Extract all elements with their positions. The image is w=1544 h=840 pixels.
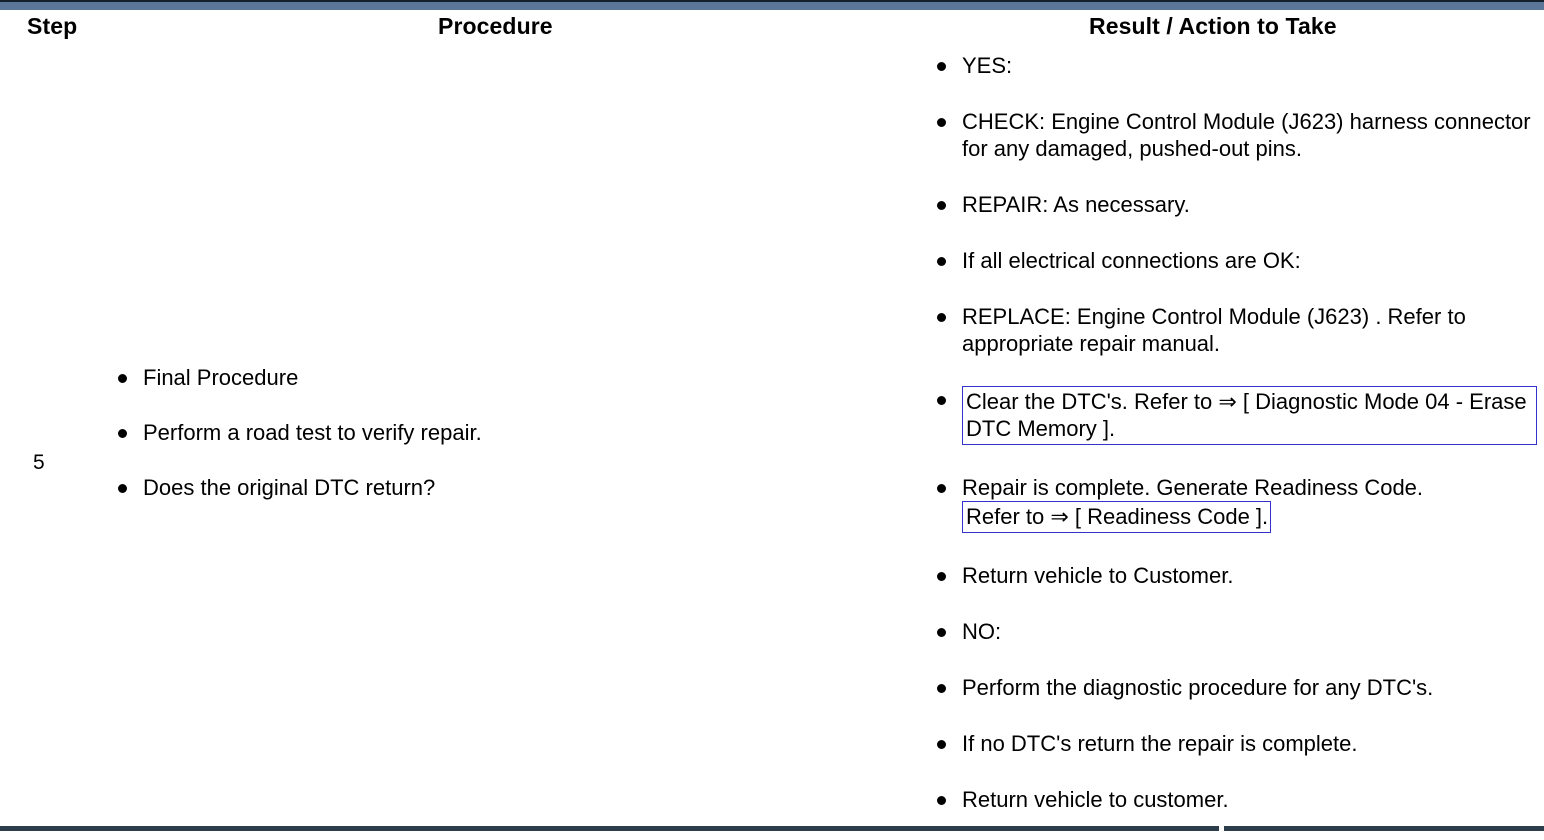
table-bottom-border: [0, 826, 1544, 831]
reference-link-box[interactable]: Clear the DTC's. Refer to ⇒ [ Diagnostic…: [962, 386, 1537, 445]
bullet-icon: [937, 62, 946, 71]
result-column: YES:CHECK: Engine Control Module (J623) …: [937, 52, 1537, 840]
bullet-icon: [937, 313, 946, 322]
result-bullet-item: NO:: [937, 618, 1537, 645]
result-bullet-item: Return vehicle to Customer.: [937, 562, 1537, 589]
result-bullet-item: YES:: [937, 52, 1537, 79]
result-bullet-text: Perform the diagnostic procedure for any…: [962, 674, 1537, 701]
procedure-bullet-text: Does the original DTC return?: [143, 474, 798, 501]
bullet-icon: [937, 684, 946, 693]
bullet-icon: [118, 429, 127, 438]
result-list: YES:CHECK: Engine Control Module (J623) …: [937, 52, 1537, 813]
result-bullet-item: CHECK: Engine Control Module (J623) harn…: [937, 108, 1537, 162]
column-header-procedure: Procedure: [438, 12, 553, 40]
result-bullet-item: Repair is complete. Generate Readiness C…: [937, 474, 1537, 533]
result-bullet-item: REPLACE: Engine Control Module (J623) . …: [937, 303, 1537, 357]
bullet-icon: [937, 796, 946, 805]
bullet-icon: [937, 628, 946, 637]
column-header-step: Step: [27, 12, 77, 40]
result-bullet-text: If no DTC's return the repair is complet…: [962, 730, 1537, 757]
table-header-row: Step Procedure Result / Action to Take: [0, 12, 1544, 46]
result-bullet-text: Return vehicle to Customer.: [962, 562, 1537, 589]
result-bullet-item: If no DTC's return the repair is complet…: [937, 730, 1537, 757]
bullet-icon: [937, 484, 946, 493]
bullet-icon: [937, 257, 946, 266]
diagnostic-procedure-table: Step Procedure Result / Action to Take 5…: [0, 0, 1544, 840]
result-bullet-text: Return vehicle to customer.: [962, 786, 1537, 813]
bullet-icon: [937, 118, 946, 127]
reference-link-box[interactable]: Refer to ⇒ [ Readiness Code ].: [962, 501, 1271, 533]
bullet-icon: [937, 396, 946, 405]
result-bullet-text: Repair is complete. Generate Readiness C…: [962, 474, 1537, 501]
bullet-icon: [118, 374, 127, 383]
result-bullet-text: CHECK: Engine Control Module (J623) harn…: [962, 108, 1537, 162]
result-bullet-item: Return vehicle to customer.: [937, 786, 1537, 813]
result-bullet-text: NO:: [962, 618, 1537, 645]
bullet-icon: [937, 740, 946, 749]
result-bullet-text: If all electrical connections are OK:: [962, 247, 1537, 274]
column-header-result: Result / Action to Take: [1089, 12, 1337, 40]
procedure-bullet-text: Perform a road test to verify repair.: [143, 419, 798, 446]
procedure-bullet-item: Perform a road test to verify repair.: [118, 419, 798, 446]
bullet-icon: [118, 484, 127, 493]
bullet-icon: [937, 572, 946, 581]
procedure-column: Final ProcedurePerform a road test to ve…: [118, 364, 798, 529]
result-bullet-item: Clear the DTC's. Refer to ⇒ [ Diagnostic…: [937, 386, 1537, 445]
procedure-bullet-text: Final Procedure: [143, 364, 798, 391]
bullet-icon: [937, 201, 946, 210]
result-bullet-item: REPAIR: As necessary.: [937, 191, 1537, 218]
step-number: 5: [33, 450, 45, 476]
procedure-bullet-item: Does the original DTC return?: [118, 474, 798, 501]
table-bottom-border-notch: [1219, 826, 1224, 831]
result-bullet-item: Perform the diagnostic procedure for any…: [937, 674, 1537, 701]
result-bullet-item: If all electrical connections are OK:: [937, 247, 1537, 274]
procedure-bullet-item: Final Procedure: [118, 364, 798, 391]
result-bullet-text: YES:: [962, 52, 1537, 79]
procedure-list: Final ProcedurePerform a road test to ve…: [118, 364, 798, 501]
result-bullet-text: REPLACE: Engine Control Module (J623) . …: [962, 303, 1537, 357]
table-top-border: [0, 0, 1544, 10]
result-bullet-text: REPAIR: As necessary.: [962, 191, 1537, 218]
